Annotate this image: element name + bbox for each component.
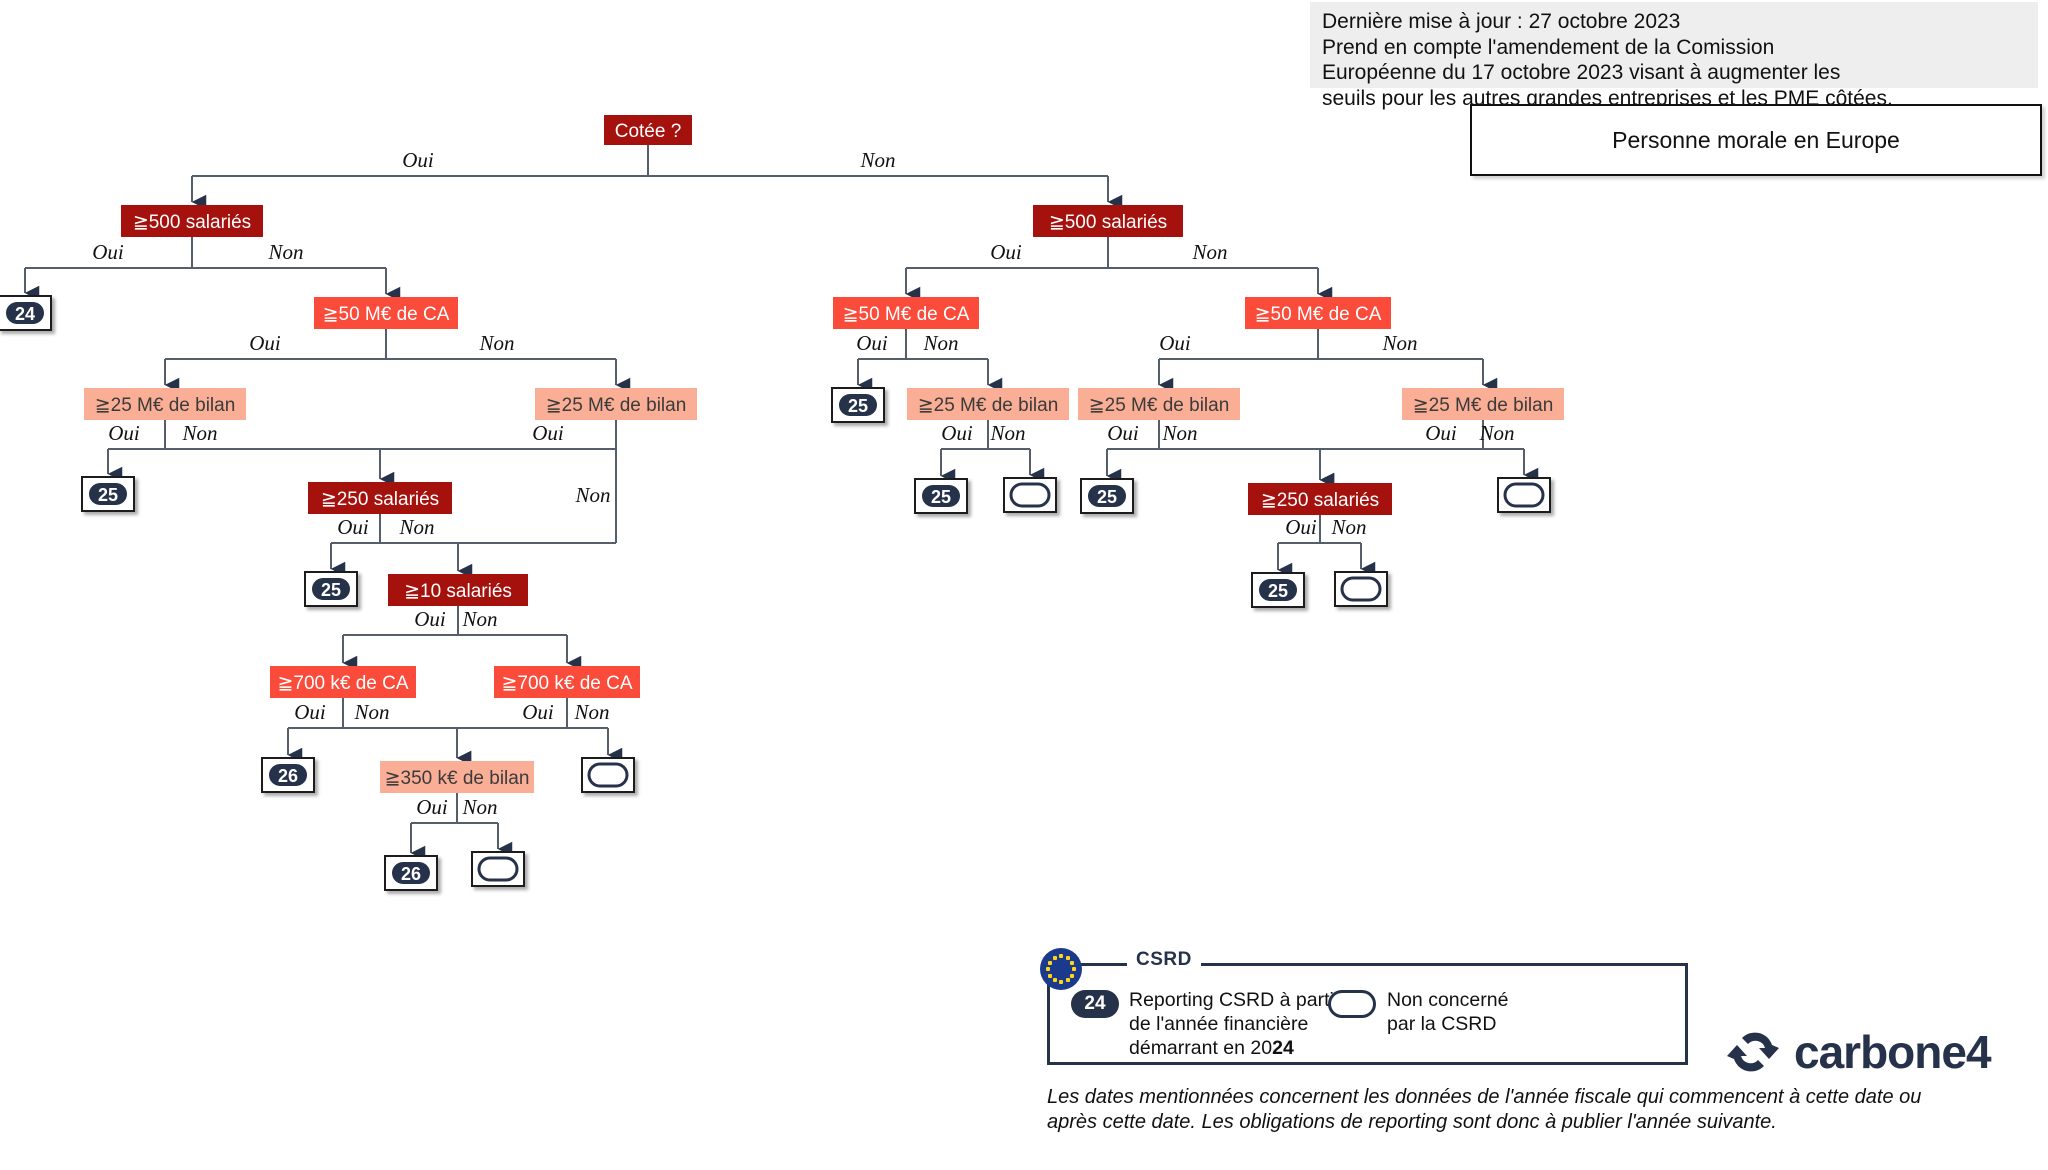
leaf-badge-26[interactable]: 26	[385, 856, 437, 890]
leaf-badge-24[interactable]: 24	[0, 296, 51, 330]
leaf-badge-25[interactable]: 25	[82, 477, 134, 511]
decision-node[interactable]: ≧25 M€ de bilan	[535, 388, 697, 420]
edge-label-non: Non	[398, 515, 434, 539]
edge-label-non: Non	[574, 483, 610, 507]
legend-reporting-text-main: Reporting CSRD à partir de l'année finan…	[1129, 989, 1340, 1059]
leaf-badge-value: 25	[1268, 581, 1288, 601]
decision-node[interactable]: ≧25 M€ de bilan	[1078, 388, 1240, 420]
decision-node[interactable]: ≧50 M€ de CA	[314, 297, 458, 329]
decision-node-label: ≧10 salariés	[404, 581, 512, 602]
leaf-badge-25[interactable]: 25	[915, 479, 967, 513]
edge-label-non: Non	[461, 795, 497, 819]
decision-node-label: ≧500 salariés	[1049, 212, 1167, 233]
leaf-badge-not-concerned[interactable]	[1004, 478, 1056, 512]
legend-reporting-year-bold: 24	[1272, 1037, 1294, 1059]
edge-label-non: Non	[478, 331, 514, 355]
decision-node-label: ≧50 M€ de CA	[1255, 304, 1382, 325]
decision-node[interactable]: ≧700 k€ de CA	[494, 666, 640, 698]
decision-node[interactable]: ≧700 k€ de CA	[270, 666, 416, 698]
last-update-note: Dernière mise à jour : 27 octobre 2023 P…	[1310, 2, 2038, 88]
edge-label-oui: Oui	[414, 607, 446, 631]
leaf-badge-26[interactable]: 26	[262, 758, 314, 792]
edge-label-non: Non	[267, 240, 303, 264]
decision-node[interactable]: ≧10 salariés	[388, 574, 528, 606]
decision-node-label: ≧700 k€ de CA	[277, 673, 408, 694]
leaf-badge-value: 25	[848, 396, 868, 416]
decision-node[interactable]: ≧25 M€ de bilan	[84, 388, 246, 420]
brand-name: carbone4	[1794, 1025, 1991, 1079]
leaf-badge-not-concerned[interactable]	[1335, 572, 1387, 606]
brand-logo: carbone4	[1725, 1025, 1991, 1079]
eu-flag-icon	[1040, 948, 1082, 990]
edge-label-non: Non	[859, 148, 895, 172]
edge-label-non: Non	[1161, 421, 1197, 445]
leaf-badge-25[interactable]: 25	[305, 572, 357, 606]
leaf-badge-value: 25	[98, 485, 118, 505]
leaf-badge-value: 25	[1097, 487, 1117, 507]
decision-node-label: Cotée ?	[615, 121, 682, 142]
edge-label-oui: Oui	[1107, 421, 1139, 445]
decision-node-label: ≧250 salariés	[1261, 490, 1379, 511]
tree-leaf-nodes: 242525262625252525	[0, 296, 1550, 890]
edge-label-non: Non	[181, 421, 217, 445]
leaf-badge-value: 26	[278, 766, 298, 786]
decision-node-label: ≧25 M€ de bilan	[95, 395, 236, 416]
edge-label-oui: Oui	[337, 515, 369, 539]
edge-label-oui: Oui	[402, 148, 434, 172]
decision-node-label: ≧250 salariés	[321, 489, 439, 510]
decision-node-label: ≧700 k€ de CA	[501, 673, 632, 694]
decision-node-label: ≧25 M€ de bilan	[546, 395, 687, 416]
legend-item-reporting: 24 Reporting CSRD à partir de l'année fi…	[1071, 988, 1340, 1060]
edge-label-oui: Oui	[1159, 331, 1191, 355]
edge-label-non: Non	[353, 700, 389, 724]
legend-not-concerned-text: Non concerné par la CSRD	[1387, 988, 1508, 1036]
decision-node-label: ≧50 M€ de CA	[323, 304, 450, 325]
edge-label-oui: Oui	[294, 700, 326, 724]
edge-label-oui: Oui	[416, 795, 448, 819]
edge-label-oui: Oui	[522, 700, 554, 724]
decision-node[interactable]: ≧50 M€ de CA	[833, 297, 979, 329]
edge-label-non: Non	[461, 607, 497, 631]
leaf-badge-25[interactable]: 25	[1252, 573, 1304, 607]
edge-label-non: Non	[573, 700, 609, 724]
edge-label-oui: Oui	[532, 421, 564, 445]
legend-badge-24: 24	[1071, 990, 1119, 1018]
edge-label-non: Non	[922, 331, 958, 355]
entity-scope-box: Personne morale en Europe	[1470, 104, 2042, 176]
legend-title: CSRD	[1127, 949, 1201, 971]
decision-node[interactable]: ≧25 M€ de bilan	[1402, 388, 1564, 420]
leaf-badge-25[interactable]: 25	[1081, 479, 1133, 513]
decision-node-label: ≧50 M€ de CA	[843, 304, 970, 325]
carbone4-swirl-icon	[1725, 1026, 1781, 1078]
edge-label-non: Non	[1478, 421, 1514, 445]
legend-reporting-text: Reporting CSRD à partir de l'année finan…	[1129, 988, 1340, 1060]
edge-label-oui: Oui	[1285, 515, 1317, 539]
legend-item-not-concerned: Non concerné par la CSRD	[1328, 988, 1508, 1036]
decision-node[interactable]: ≧25 M€ de bilan	[907, 388, 1069, 420]
decision-node[interactable]: ≧250 salariés	[1248, 483, 1392, 515]
leaf-badge-value: 25	[321, 580, 341, 600]
edge-label-non: Non	[1330, 515, 1366, 539]
tree-decision-nodes: Cotée ?≧500 salariés≧500 salariés≧50 M€ …	[84, 115, 1564, 793]
decision-node-label: ≧25 M€ de bilan	[1089, 395, 1230, 416]
decision-node-label: ≧25 M€ de bilan	[918, 395, 1059, 416]
edge-label-oui: Oui	[249, 331, 281, 355]
decision-node[interactable]: ≧350 k€ de bilan	[380, 761, 534, 793]
leaf-badge-value: 25	[931, 487, 951, 507]
decision-node[interactable]: ≧250 salariés	[308, 482, 452, 514]
decision-node-label: ≧500 salariés	[133, 212, 251, 233]
edge-label-oui: Oui	[990, 240, 1022, 264]
leaf-badge-not-concerned[interactable]	[582, 758, 634, 792]
leaf-badge-25[interactable]: 25	[832, 388, 884, 422]
legend-empty-pill-icon	[1328, 990, 1376, 1018]
decision-node[interactable]: Cotée ?	[604, 115, 692, 145]
decision-node[interactable]: ≧500 salariés	[121, 205, 263, 237]
decision-node-label: ≧350 k€ de bilan	[385, 768, 530, 789]
decision-node-label: ≧25 M€ de bilan	[1413, 395, 1554, 416]
leaf-badge-not-concerned[interactable]	[472, 852, 524, 886]
leaf-badge-value: 24	[15, 304, 35, 324]
edge-label-non: Non	[989, 421, 1025, 445]
edge-label-oui: Oui	[92, 240, 124, 264]
edge-label-oui: Oui	[856, 331, 888, 355]
edge-label-oui: Oui	[1425, 421, 1457, 445]
leaf-badge-not-concerned[interactable]	[1498, 478, 1550, 512]
decision-node[interactable]: ≧500 salariés	[1033, 205, 1183, 237]
leaf-badge-value: 26	[401, 864, 421, 884]
decision-node[interactable]: ≧50 M€ de CA	[1245, 297, 1391, 329]
edge-label-oui: Oui	[108, 421, 140, 445]
footnote-text: Les dates mentionnées concernent les don…	[1047, 1085, 1947, 1135]
edge-label-non: Non	[1381, 331, 1417, 355]
edge-label-oui: Oui	[941, 421, 973, 445]
edge-label-non: Non	[1191, 240, 1227, 264]
